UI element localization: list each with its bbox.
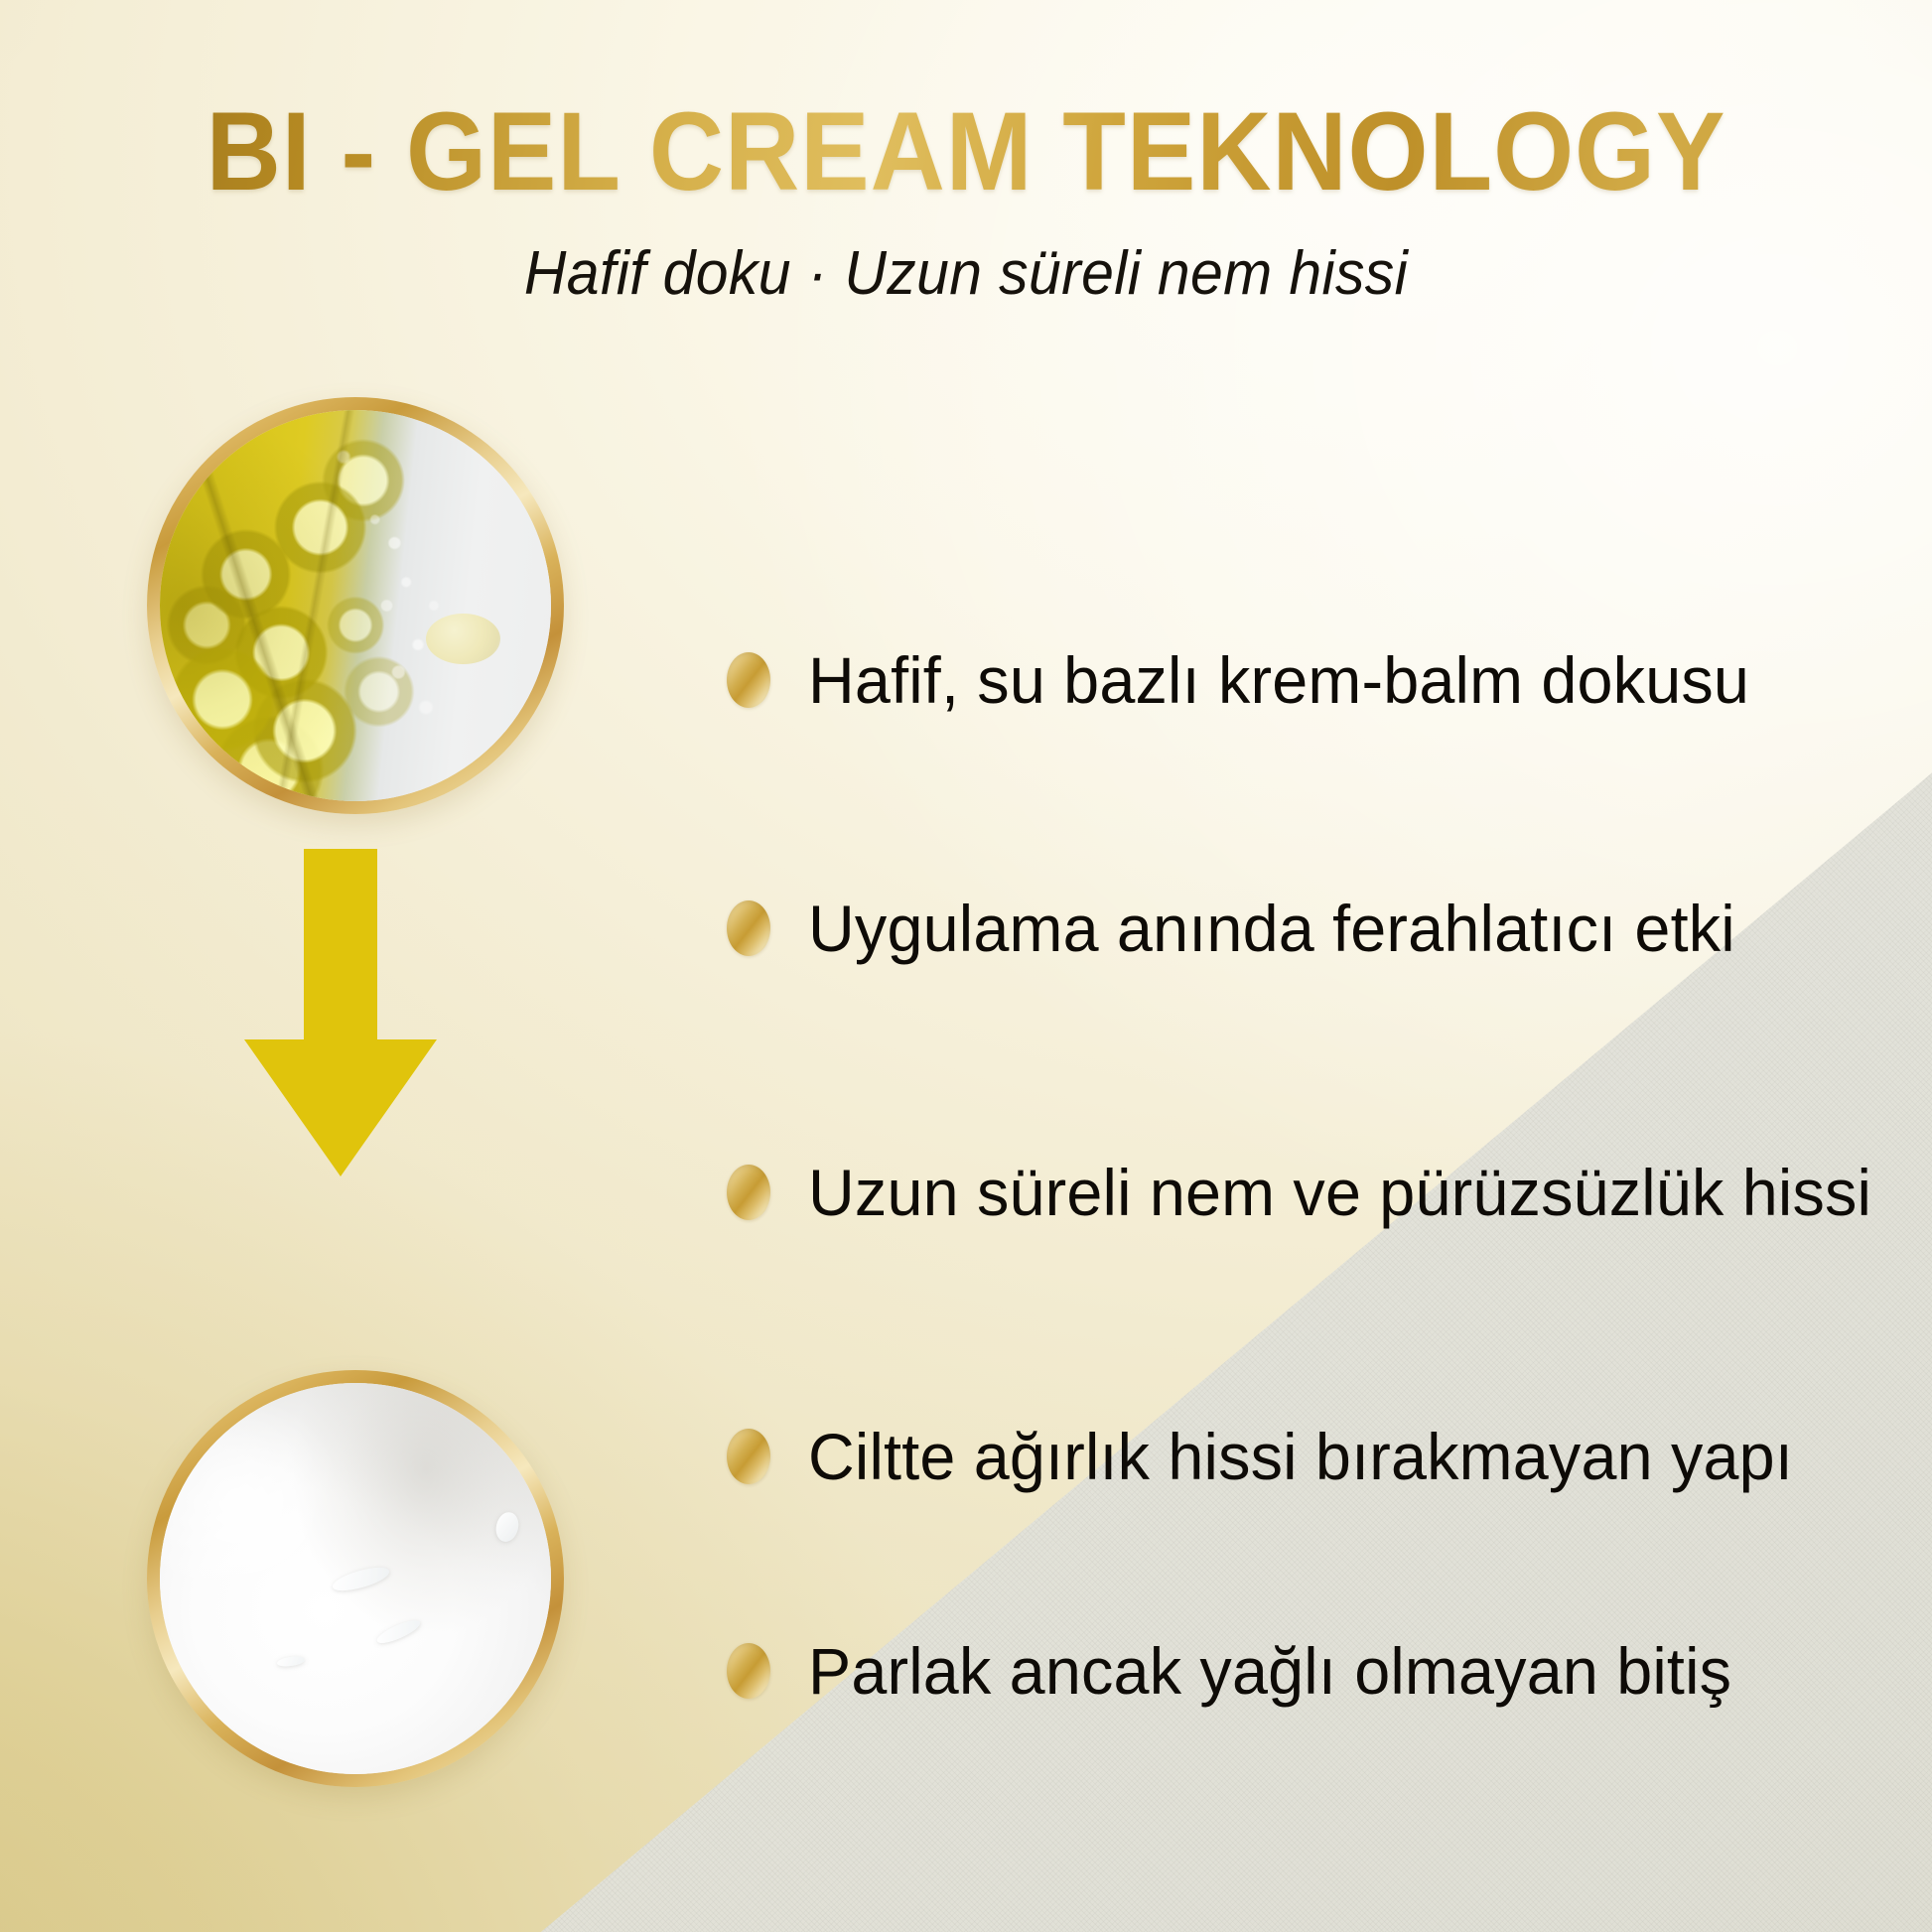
bullet-dot-icon [727, 1643, 770, 1699]
list-item-label: Parlak ancak yağlı olmayan bitiş [808, 1637, 1731, 1706]
cream-image [160, 1383, 551, 1774]
down-arrow [236, 849, 445, 1345]
list-item-label: Uygulama anında ferahlatıcı etki [808, 895, 1735, 963]
benefits-list: Hafif, su bazlı krem-balm dokusu Uygulam… [727, 556, 1859, 1761]
top-circle-frame [147, 397, 564, 814]
list-item: Parlak ancak yağlı olmayan bitiş [727, 1581, 1859, 1761]
list-item: Ciltte ağırlık hissi bırakmayan yapı [727, 1332, 1859, 1581]
down-arrow-icon [244, 849, 437, 1176]
list-item-label: Ciltte ağırlık hissi bırakmayan yapı [808, 1423, 1793, 1491]
bullet-dot-icon [727, 900, 770, 956]
header: BI - GEL CREAM TEKNOLOGY Hafif doku · Uz… [0, 95, 1932, 309]
oil-edge-shadow [160, 410, 551, 801]
list-item: Hafif, su bazlı krem-balm dokusu [727, 556, 1859, 804]
list-item: Uygulama anında ferahlatıcı etki [727, 804, 1859, 1052]
page-title: BI - GEL CREAM TEKNOLOGY [68, 95, 1864, 208]
infographic-canvas: BI - GEL CREAM TEKNOLOGY Hafif doku · Uz… [0, 0, 1932, 1932]
visual-column [119, 397, 596, 1787]
list-item: Uzun süreli nem ve pürüzsüzlük hissi [727, 1052, 1859, 1332]
bullet-dot-icon [727, 1165, 770, 1220]
bullet-dot-icon [727, 652, 770, 708]
list-item-label: Hafif, su bazlı krem-balm dokusu [808, 646, 1749, 715]
page-subtitle: Hafif doku · Uzun süreli nem hissi [49, 238, 1884, 309]
list-item-label: Uzun süreli nem ve pürüzsüzlük hissi [808, 1159, 1871, 1227]
oil-gel-image [160, 410, 551, 801]
bottom-circle-frame [147, 1370, 564, 1787]
bullet-dot-icon [727, 1429, 770, 1484]
